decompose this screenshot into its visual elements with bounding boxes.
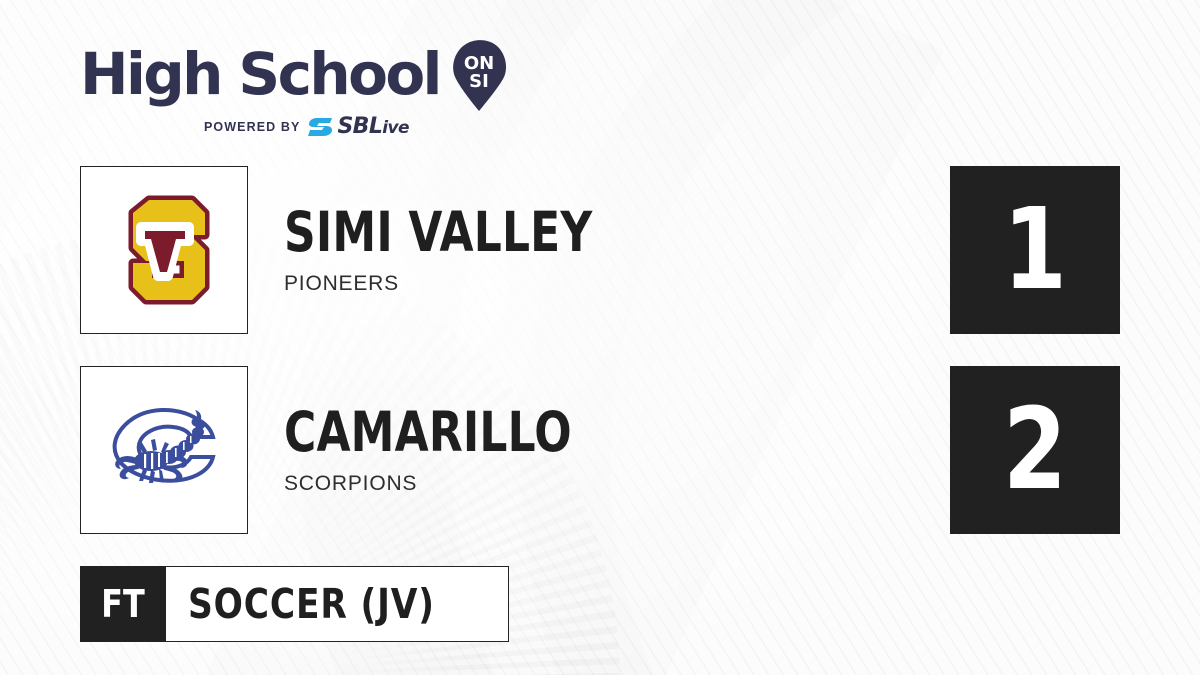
game-status-bar: FT SOCCER (JV) [80,566,509,642]
team-text-block: CAMARILLO SCORPIONS [284,405,950,496]
team-name: CAMARILLO [284,405,817,460]
team-score: 2 [1003,394,1067,506]
team-row: SIMI VALLEY PIONEERS 1 [80,166,1120,334]
status-sport-block: SOCCER (JV) [166,566,509,642]
sblive-s-icon [308,116,334,138]
pin-text-si: SI [469,71,489,92]
powered-by-label: POWERED BY [204,120,300,134]
simi-valley-sv-monogram-logo [89,175,239,325]
sblive-upper: SBL [337,114,382,139]
brand-wordmark: High School [80,48,440,101]
status-sport-label: SOCCER (JV) [188,580,435,628]
team-score-box: 2 [950,366,1120,534]
team-logo-box [80,166,248,334]
team-mascot: SCORPIONS [284,472,950,496]
powered-by-row: POWERED BY SBLive [80,116,510,138]
brand-header: High School ON SI POWERED BY SBLive [80,38,510,138]
sblive-lower: ive [382,118,409,138]
sblive-wordmark: SBLive [337,116,408,138]
on-si-pin-icon: ON SI [450,38,508,112]
team-score-box: 1 [950,166,1120,334]
camarillo-scorpion-c-logo [99,395,229,505]
status-period-label: FT [101,582,145,626]
sblive-logo: SBLive [308,116,408,138]
team-text-block: SIMI VALLEY PIONEERS [284,205,950,296]
status-period-block: FT [80,566,166,642]
team-score: 1 [1003,194,1067,306]
team-mascot: PIONEERS [284,272,950,296]
team-logo-box [80,366,248,534]
brand-logo-row: High School ON SI [80,38,510,112]
team-name: SIMI VALLEY [284,205,817,260]
team-row: CAMARILLO SCORPIONS 2 [80,366,1120,534]
